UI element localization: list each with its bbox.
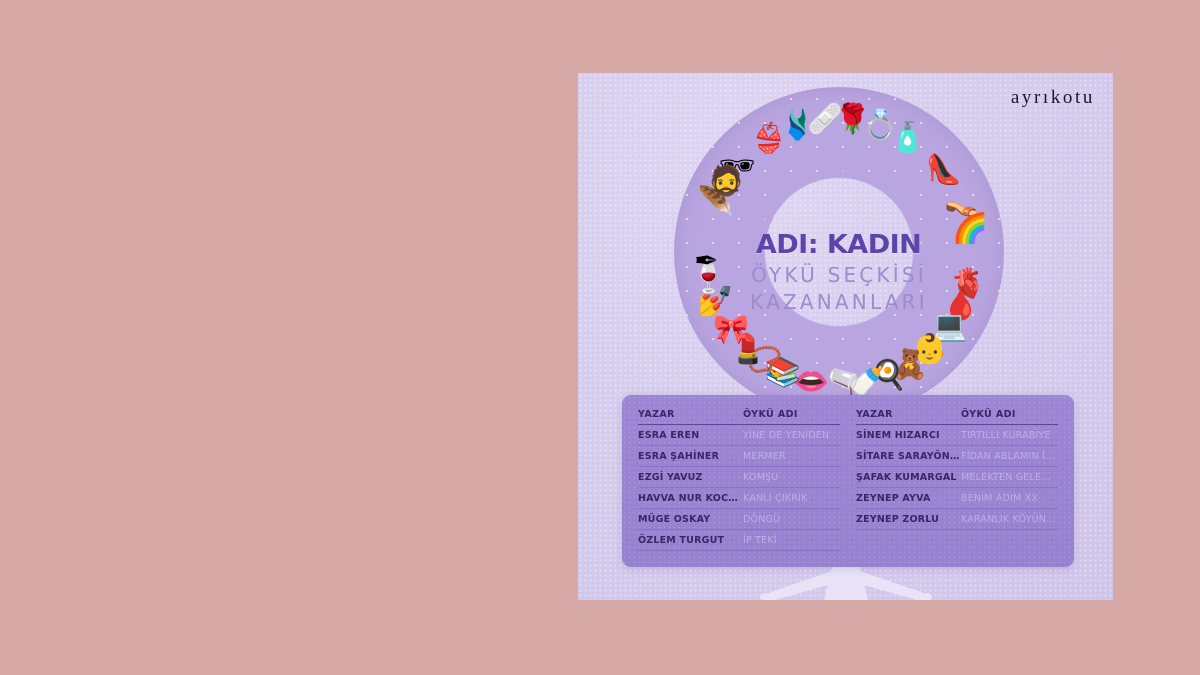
table-header-row: YAZAR ÖYKÜ ADI <box>638 409 840 425</box>
table-row: HAVVA NUR KOCABAŞKANLI ÇIKRIK <box>638 488 840 509</box>
column-header-story-left: ÖYKÜ ADI <box>743 409 840 425</box>
table-row: ZEYNEP AYVABENİM ADIM XX <box>856 488 1058 509</box>
winner-author: ÖZLEM TURGUT <box>638 530 743 551</box>
poster-title-block: ADI: KADIN ÖYKÜ SEÇKİSİ KAZANANLARI <box>674 87 1004 417</box>
winner-author: ZEYNEP ZORLU <box>856 509 961 530</box>
winner-story-title: YİNE DE YENİDEN <box>743 425 840 446</box>
table-header-row: YAZAR ÖYKÜ ADI <box>856 409 1058 425</box>
winner-author: EZGİ YAVUZ <box>638 467 743 488</box>
table-row: SİTARE SARAYÖNLÜFİDAN ABLAMIN İKİNCİ GİD… <box>856 446 1058 467</box>
winner-story-title: TIRTILLI KURABİYE <box>961 425 1058 446</box>
winner-story-title: KANLI ÇIKRIK <box>743 488 840 509</box>
table-row: ZEYNEP ZORLUKARANLIK KÖYÜN CİNİ <box>856 509 1058 530</box>
winner-author: HAVVA NUR KOCABAŞ <box>638 488 743 509</box>
table-row: ESRA ŞAHİNERMERMER <box>638 446 840 467</box>
table-row: EZGİ YAVUZKOMŞU <box>638 467 840 488</box>
winner-author: MÜGE OSKAY <box>638 509 743 530</box>
winners-column-left: YAZAR ÖYKÜ ADI ESRA ERENYİNE DE YENİDENE… <box>638 409 840 551</box>
table-row: ESRA ERENYİNE DE YENİDEN <box>638 425 840 446</box>
table-row: MÜGE OSKAYDÖNGÜ <box>638 509 840 530</box>
winner-author: ŞAFAK KUMARGAL <box>856 467 961 488</box>
winner-story-title: MERMER <box>743 446 840 467</box>
page-title: ADI: KADIN <box>756 230 921 260</box>
winner-author: ESRA EREN <box>638 425 743 446</box>
column-header-author-left: YAZAR <box>638 409 743 425</box>
column-header-story-right: ÖYKÜ ADI <box>961 409 1058 425</box>
poster-card: ayrıkotu 🪶🕶🧔👙🩱🩹🌹💍🧴👠👡🌈🫀🩸💻👶🧸🍳🍼🫗👄📚📿💄🎀💅🍷✒ AD… <box>578 73 1113 600</box>
winner-story-title: MELEKTEN GELEN İŞARET <box>961 467 1058 488</box>
winner-story-title: BENİM ADIM XX <box>961 488 1058 509</box>
table-row: SİNEM HIZARCITIRTILLI KURABİYE <box>856 425 1058 446</box>
winners-panel: YAZAR ÖYKÜ ADI ESRA ERENYİNE DE YENİDENE… <box>622 395 1074 567</box>
winners-table-right: YAZAR ÖYKÜ ADI SİNEM HIZARCITIRTILLI KUR… <box>856 409 1058 530</box>
winner-story-title: KOMŞU <box>743 467 840 488</box>
winner-author: SİTARE SARAYÖNLÜ <box>856 446 961 467</box>
column-header-author-right: YAZAR <box>856 409 961 425</box>
winner-author: ESRA ŞAHİNER <box>638 446 743 467</box>
winner-story-title: DÖNGÜ <box>743 509 840 530</box>
winner-author: SİNEM HIZARCI <box>856 425 961 446</box>
winners-column-right: YAZAR ÖYKÜ ADI SİNEM HIZARCITIRTILLI KUR… <box>856 409 1058 551</box>
winner-author: ZEYNEP AYVA <box>856 488 961 509</box>
winner-story-title: FİDAN ABLAMIN İKİNCİ GİDİŞİ <box>961 446 1058 467</box>
poster-subtitle-line1: ÖYKÜ SEÇKİSİ <box>751 263 927 287</box>
winner-story-title: İP TEKİ <box>743 530 840 551</box>
winner-story-title: KARANLIK KÖYÜN CİNİ <box>961 509 1058 530</box>
table-row: ŞAFAK KUMARGALMELEKTEN GELEN İŞARET <box>856 467 1058 488</box>
poster-subtitle-line2: KAZANANLARI <box>750 290 928 314</box>
brand-logo: ayrıkotu <box>1011 87 1095 109</box>
table-row: ÖZLEM TURGUTİP TEKİ <box>638 530 840 551</box>
winners-table-left: YAZAR ÖYKÜ ADI ESRA ERENYİNE DE YENİDENE… <box>638 409 840 551</box>
